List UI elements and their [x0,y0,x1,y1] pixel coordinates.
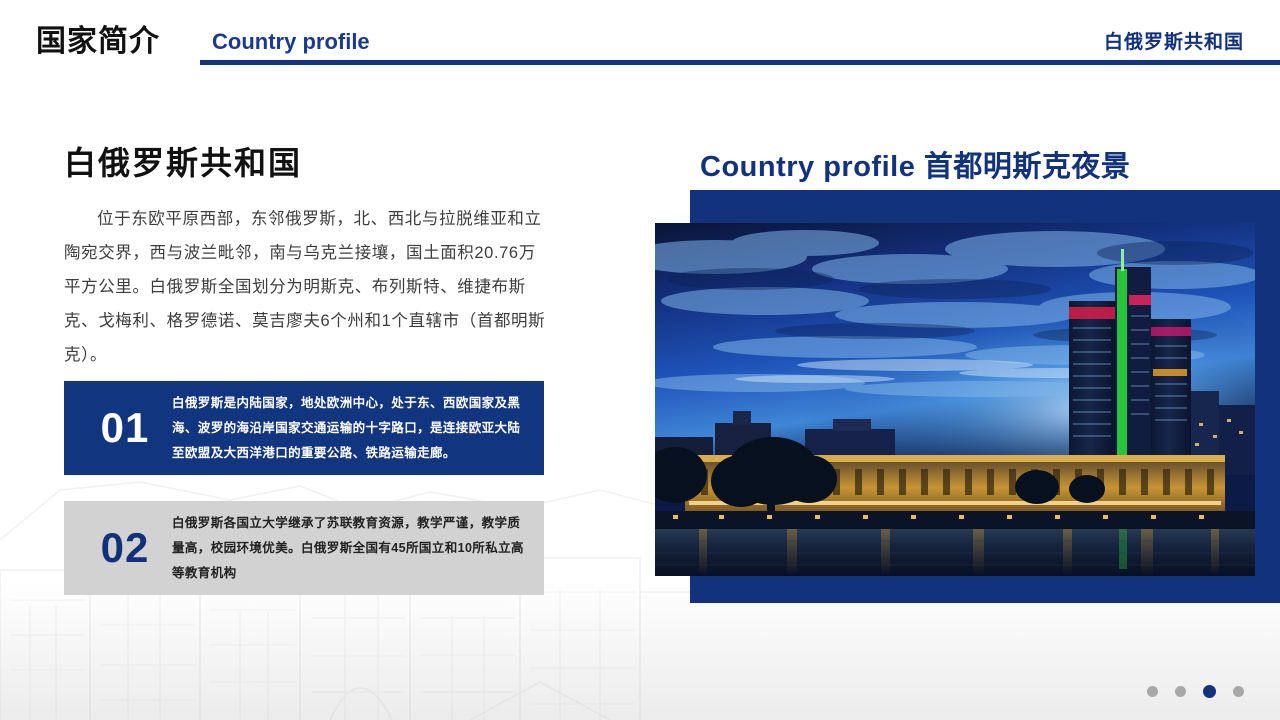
slide-header: 国家简介 Country profile 白俄罗斯共和国 [0,0,1280,80]
pagination-dot-2[interactable] [1175,686,1186,697]
page-title-cn: 国家简介 [36,22,160,62]
info-box-02-text: 白俄罗斯各国立大学继承了苏联教育资源，教学严谨，教学质量高，校园环境优美。白俄罗… [172,511,526,586]
left-content-column: 白俄罗斯共和国 位于东欧平原西部，东邻俄罗斯，北、西北与拉脱维亚和立陶宛交界，西… [64,140,564,372]
pagination-dot-4[interactable] [1233,686,1244,697]
header-divider-rule [200,60,1280,65]
city-night-photo [655,223,1255,576]
info-box-02: 02 白俄罗斯各国立大学继承了苏联教育资源，教学严谨，教学质量高，校园环境优美。… [64,501,544,595]
photo-heading-cn: 首都明斯克夜景 [924,151,1131,183]
pagination-dots[interactable] [1147,685,1244,698]
pagination-dot-3[interactable] [1203,685,1216,698]
photo-heading-en: Country profile [700,151,915,183]
header-country-label: 白俄罗斯共和国 [1104,30,1244,56]
section-paragraph: 位于东欧平原西部，东邻俄罗斯，北、西北与拉脱维亚和立陶宛交界，西与波兰毗邻，南与… [64,202,550,372]
page-title-en: Country profile [212,27,370,57]
info-box-01: 01 白俄罗斯是内陆国家，地处欧洲中心，处于东、西欧国家及黑海、波罗的海沿岸国家… [64,381,544,475]
info-box-02-number: 02 [78,524,172,572]
pagination-dot-1[interactable] [1147,686,1158,697]
slide-root: 国家简介 Country profile 白俄罗斯共和国 白俄罗斯共和国 位于东… [0,0,1280,720]
section-title: 白俄罗斯共和国 [64,140,564,186]
info-box-01-number: 01 [78,404,172,452]
info-box-01-text: 白俄罗斯是内陆国家，地处欧洲中心，处于东、西欧国家及黑海、波罗的海沿岸国家交通运… [172,391,526,466]
photo-heading: Country profile 首都明斯克夜景 [700,146,1130,188]
